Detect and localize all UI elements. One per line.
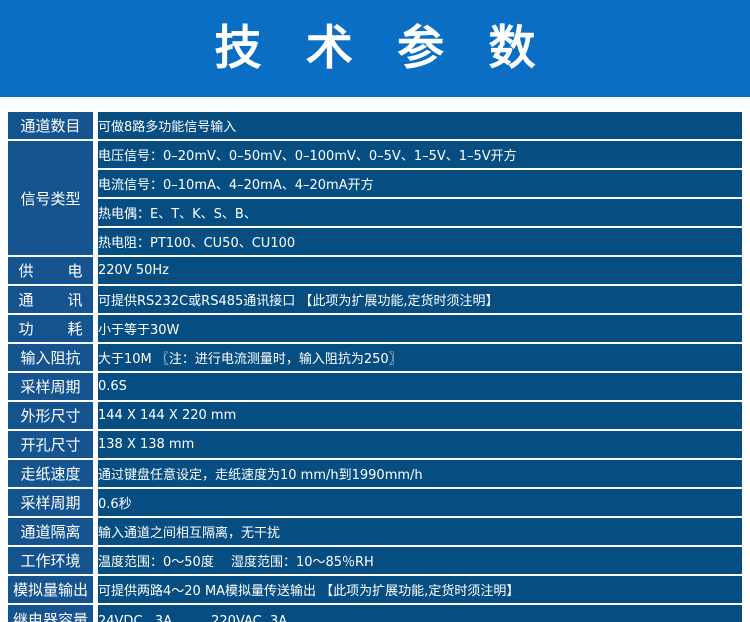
spec-value-9-1: 138 X 138 mm [98,431,742,460]
spec-sheet-page: 技 术 参 数 通道数目可做8路多功能信号输入信号类型电压信号：0–20mV、0… [0,0,750,622]
table-row: 热电阻：PT100、CU50、CU100 [8,228,742,257]
spec-value-3-1: 220V 50Hz [98,257,742,286]
spec-label-7: 采样周期 [8,373,98,402]
spec-label-text: 继电器容量 [13,609,88,622]
spec-value-7-1: 0.6S [98,373,742,402]
table-row: 走纸速度通过键盘任意设定，走纸速度为10 mm/h到1990mm/h [8,460,742,489]
spec-label-2: 信号类型 [8,141,98,257]
spec-value-2-1: 电压信号：0–20mV、0–50mV、0–100mV、0–5V、1–5V、1–5… [98,141,742,170]
spec-value-12-1: 输入通道之间相互隔离，无干扰 [98,518,742,547]
spec-value-2-3: 热电偶：E、T、K、S、B、 [98,199,742,228]
spec-label-text: 工作环境 [20,550,80,571]
table-row: 通道数目可做8路多功能信号输入 [8,112,742,141]
spec-value-5-1: 小于等于30W [98,315,742,344]
specifications-table: 通道数目可做8路多功能信号输入信号类型电压信号：0–20mV、0–50mV、0–… [8,112,742,622]
spec-table-container: 通道数目可做8路多功能信号输入信号类型电压信号：0–20mV、0–50mV、0–… [0,97,750,622]
table-row: 工作环境温度范围：0～50度 湿度范围：10～85％RH [8,547,742,576]
spec-value-6-1: 大于10M 〖注：进行电流测量时，输入阻抗为250〗 [98,344,742,373]
spec-value-13-1: 温度范围：0～50度 湿度范围：10～85％RH [98,547,742,576]
table-row: 电流信号：0–10mA、4–20mA、4–20mA开方 [8,170,742,199]
spec-label-11: 采样周期 [8,489,98,518]
spec-value-14-1: 可提供两路4～20 MA模拟量传送输出 【此项为扩展功能,定货时须注明】 [98,576,742,605]
spec-label-text: 供电 [19,260,83,281]
table-row: 外形尺寸144 X 144 X 220 mm [8,402,742,431]
spec-value-11-1: 0.6秒 [98,489,742,518]
spec-label-13: 工作环境 [8,547,98,576]
spec-value-15-1: 24VDC , 3A 220VAC, 3A [98,605,742,622]
spec-label-text: 通道数目 [20,115,80,136]
spec-label-9: 开孔尺寸 [8,431,98,460]
spec-value-4-1: 可提供RS232C或RS485通讯接口 【此项为扩展功能,定货时须注明】 [98,286,742,315]
table-row: 采样周期0.6秒 [8,489,742,518]
spec-label-text: 采样周期 [20,376,80,397]
spec-label-text: 走纸速度 [20,463,80,484]
table-row: 继电器容量24VDC , 3A 220VAC, 3A [8,605,742,622]
spec-value-10-1: 通过键盘任意设定，走纸速度为10 mm/h到1990mm/h [98,460,742,489]
spec-label-4: 通讯 [8,286,98,315]
table-row: 热电偶：E、T、K、S、B、 [8,199,742,228]
spec-value-2-4: 热电阻：PT100、CU50、CU100 [98,228,742,257]
table-row: 信号类型电压信号：0–20mV、0–50mV、0–100mV、0–5V、1–5V… [8,141,742,170]
spec-value-8-1: 144 X 144 X 220 mm [98,402,742,431]
table-row: 通道隔离输入通道之间相互隔离，无干扰 [8,518,742,547]
spec-value-2-2: 电流信号：0–10mA、4–20mA、4–20mA开方 [98,170,742,199]
spec-table-body: 通道数目可做8路多功能信号输入信号类型电压信号：0–20mV、0–50mV、0–… [8,112,742,622]
spec-label-text: 功耗 [19,318,83,339]
page-title: 技 术 参 数 [200,25,549,72]
spec-label-1: 通道数目 [8,112,98,141]
table-row: 开孔尺寸138 X 138 mm [8,431,742,460]
table-row: 模拟量输出可提供两路4～20 MA模拟量传送输出 【此项为扩展功能,定货时须注明… [8,576,742,605]
spec-label-text: 开孔尺寸 [20,434,80,455]
spec-label-text: 信号类型 [20,188,80,209]
spec-label-15: 继电器容量 [8,605,98,622]
spec-label-text: 通讯 [19,289,83,310]
spec-label-5: 功耗 [8,315,98,344]
spec-label-14: 模拟量输出 [8,576,98,605]
spec-label-6: 输入阻抗 [8,344,98,373]
page-header-banner: 技 术 参 数 [0,0,750,97]
spec-label-text: 采样周期 [20,492,80,513]
spec-value-1-1: 可做8路多功能信号输入 [98,112,742,141]
spec-label-text: 外形尺寸 [20,405,80,426]
spec-label-8: 外形尺寸 [8,402,98,431]
spec-label-text: 通道隔离 [20,521,80,542]
table-row: 采样周期0.6S [8,373,742,402]
spec-label-text: 输入阻抗 [20,347,80,368]
spec-label-text: 模拟量输出 [13,579,88,600]
table-row: 功耗小于等于30W [8,315,742,344]
table-row: 输入阻抗大于10M 〖注：进行电流测量时，输入阻抗为250〗 [8,344,742,373]
spec-label-12: 通道隔离 [8,518,98,547]
spec-label-3: 供电 [8,257,98,286]
spec-label-10: 走纸速度 [8,460,98,489]
table-row: 通讯可提供RS232C或RS485通讯接口 【此项为扩展功能,定货时须注明】 [8,286,742,315]
table-row: 供电220V 50Hz [8,257,742,286]
